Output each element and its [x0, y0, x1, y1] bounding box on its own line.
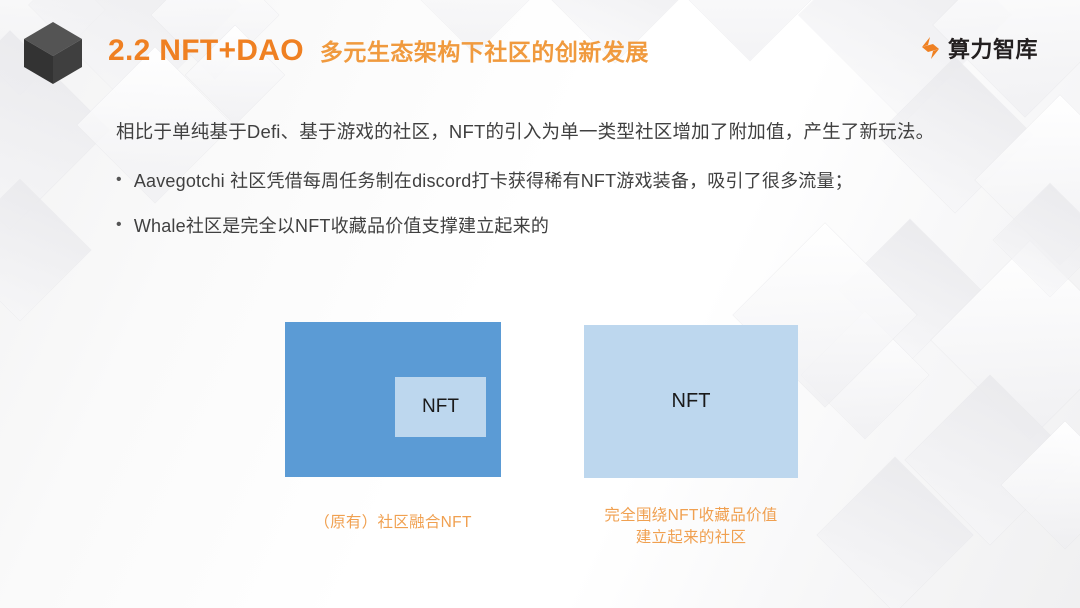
community-box-right: NFT: [584, 325, 798, 478]
slide: 2.2 NFT+DAO 多元生态架构下社区的创新发展 算力智库 相比于单纯基于D…: [0, 0, 1080, 608]
caption-right: 完全围绕NFT收藏品价值 建立起来的社区: [584, 505, 798, 550]
diagram: NFT （原有）社区融合NFT NFT 完全围绕NFT收藏品价值 建立起来的社区: [0, 0, 1080, 608]
nft-box-inner: NFT: [395, 377, 486, 437]
caption-right-line1: 完全围绕NFT收藏品价值: [584, 505, 798, 527]
community-box-left: NFT: [285, 322, 501, 477]
caption-right-line2: 建立起来的社区: [584, 527, 798, 549]
caption-left: （原有）社区融合NFT: [285, 512, 501, 534]
